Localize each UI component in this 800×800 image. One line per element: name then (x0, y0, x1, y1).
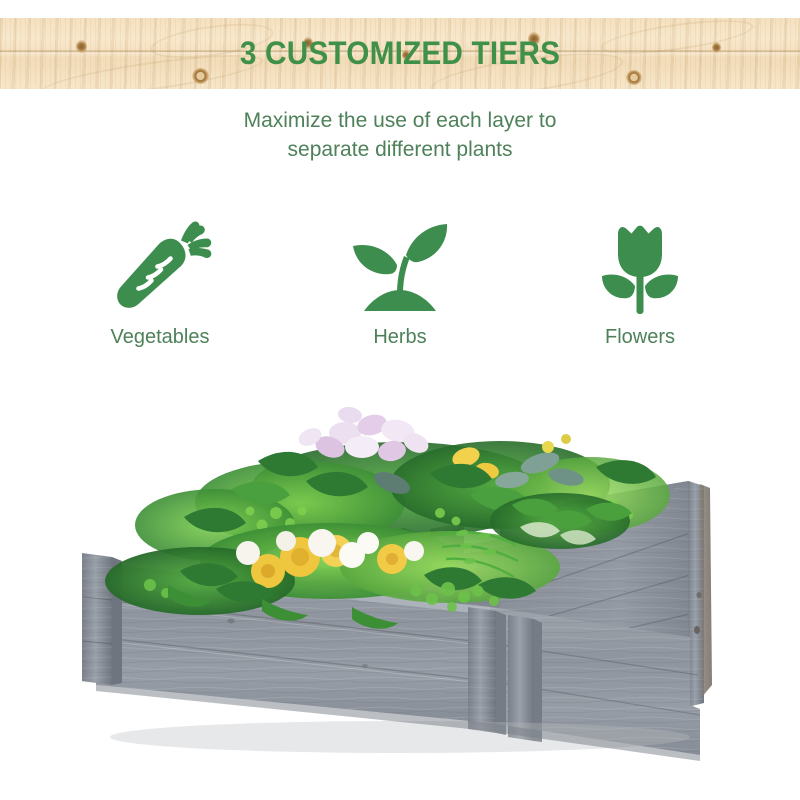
carrot-icon (108, 212, 212, 320)
feature-label-flowers: Flowers (605, 326, 675, 349)
feature-vegetables: Vegetables (60, 212, 260, 349)
subtitle-line-1: Maximize the use of each layer to (0, 106, 800, 135)
feature-herbs: Herbs (300, 212, 500, 349)
feature-label-herbs: Herbs (373, 326, 426, 349)
subtitle: Maximize the use of each layer to separa… (0, 106, 800, 164)
feature-flowers: Flowers (540, 212, 740, 349)
tulip-icon (588, 212, 692, 320)
product-image (0, 385, 800, 785)
sprout-icon (344, 212, 456, 320)
feature-label-vegetables: Vegetables (111, 326, 210, 349)
subtitle-line-2: separate different plants (0, 135, 800, 164)
feature-row: Vegetables Herbs (60, 212, 740, 372)
banner-title: 3 CUSTOMIZED TIERS (28, 18, 772, 89)
